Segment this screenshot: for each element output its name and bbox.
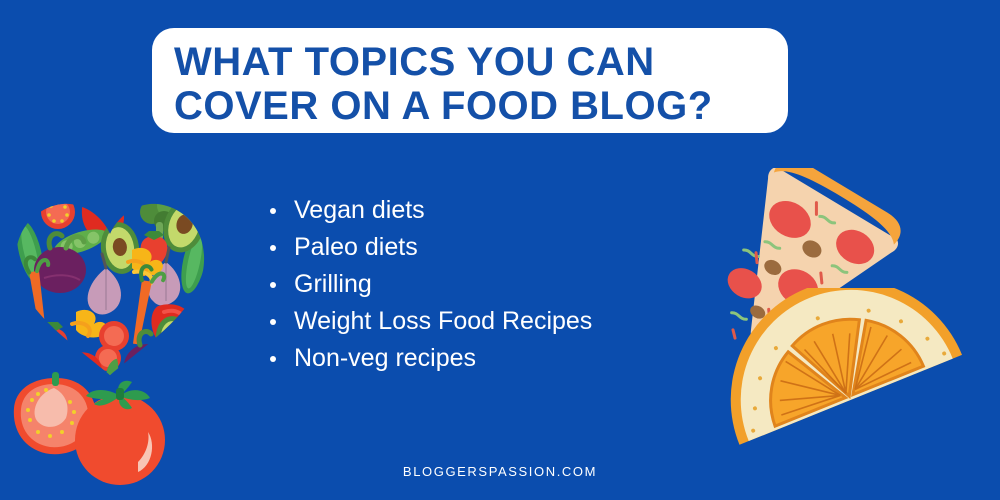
page-title-line-1: WHAT TOPICS YOU CAN [174, 40, 788, 84]
poster-canvas: WHAT TOPICS YOU CAN COVER ON A FOOD BLOG… [0, 0, 1000, 500]
list-item-label: Vegan diets [294, 196, 425, 224]
list-item-label: Grilling [294, 270, 372, 298]
bullet-dot-icon [270, 245, 276, 251]
bullet-dot-icon [270, 356, 276, 362]
list-item: Paleo diets [268, 229, 592, 266]
topic-list: Vegan diets Paleo diets Grilling Weight … [268, 192, 592, 377]
list-item: Weight Loss Food Recipes [268, 303, 592, 340]
page-title-line-2: COVER ON A FOOD BLOG? [174, 84, 788, 128]
title-card: WHAT TOPICS YOU CAN COVER ON A FOOD BLOG… [152, 28, 788, 133]
list-item-label: Paleo diets [294, 233, 418, 261]
bullet-dot-icon [270, 208, 276, 214]
footer-site-name: BLOGGERSPASSION.COM [0, 464, 1000, 479]
bullet-dot-icon [270, 282, 276, 288]
list-item: Vegan diets [268, 192, 592, 229]
bullet-dot-icon [270, 319, 276, 325]
list-item: Non-veg recipes [268, 340, 592, 377]
list-item: Grilling [268, 266, 592, 303]
list-item-label: Non-veg recipes [294, 344, 476, 372]
orange-slice-illustration [718, 288, 983, 478]
list-item-label: Weight Loss Food Recipes [294, 307, 592, 335]
vegetable-heart-illustration [8, 190, 213, 380]
